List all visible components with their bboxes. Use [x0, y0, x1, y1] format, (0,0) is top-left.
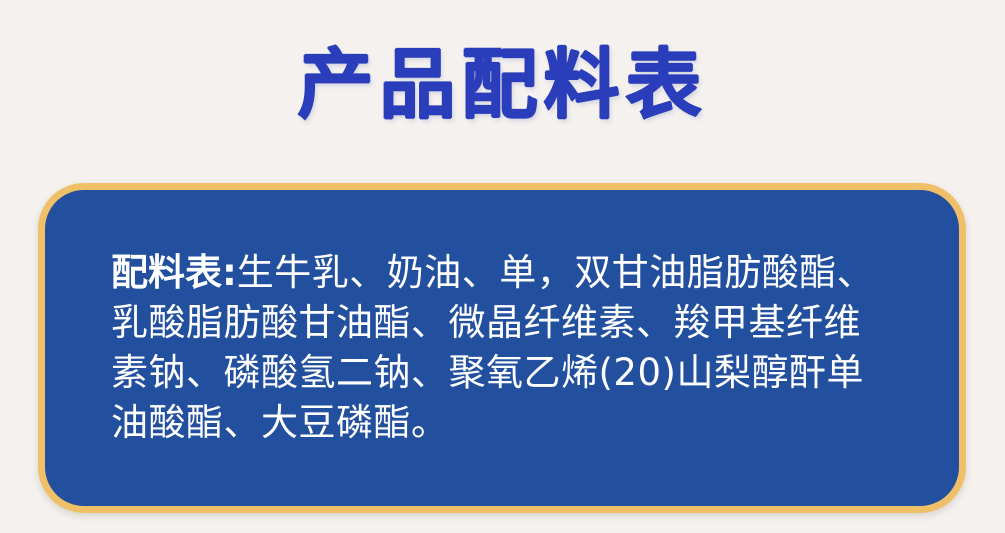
ingredients-line-1-text: 生牛乳、奶油、单，双甘油脂肪酸酯、: [237, 251, 875, 294]
page-title-container: 产品配料表: [0, 38, 1005, 132]
product-ingredients-page: 产品配料表 配料表:生牛乳、奶油、单，双甘油脂肪酸酯、 乳酸脂肪酸甘油酯、微晶纤…: [0, 0, 1005, 533]
ingredients-line-2: 乳酸脂肪酸甘油酯、微晶纤维素、羧甲基纤维: [111, 298, 913, 348]
ingredients-label: 配料表:: [111, 251, 237, 294]
ingredients-card-content: 配料表:生牛乳、奶油、单，双甘油脂肪酸酯、 乳酸脂肪酸甘油酯、微晶纤维素、羧甲基…: [111, 248, 913, 448]
page-title: 产品配料表: [298, 38, 708, 132]
ingredients-text-block: 配料表:生牛乳、奶油、单，双甘油脂肪酸酯、 乳酸脂肪酸甘油酯、微晶纤维素、羧甲基…: [111, 248, 913, 448]
ingredients-line-4: 油酸酯、大豆磷酯。: [111, 398, 913, 448]
ingredients-card: 配料表:生牛乳、奶油、单，双甘油脂肪酸酯、 乳酸脂肪酸甘油酯、微晶纤维素、羧甲基…: [38, 183, 966, 513]
ingredients-line-3: 素钠、磷酸氢二钠、聚氧乙烯(20)山梨醇酐单: [111, 348, 913, 398]
ingredients-line-1: 配料表:生牛乳、奶油、单，双甘油脂肪酸酯、: [111, 248, 913, 298]
